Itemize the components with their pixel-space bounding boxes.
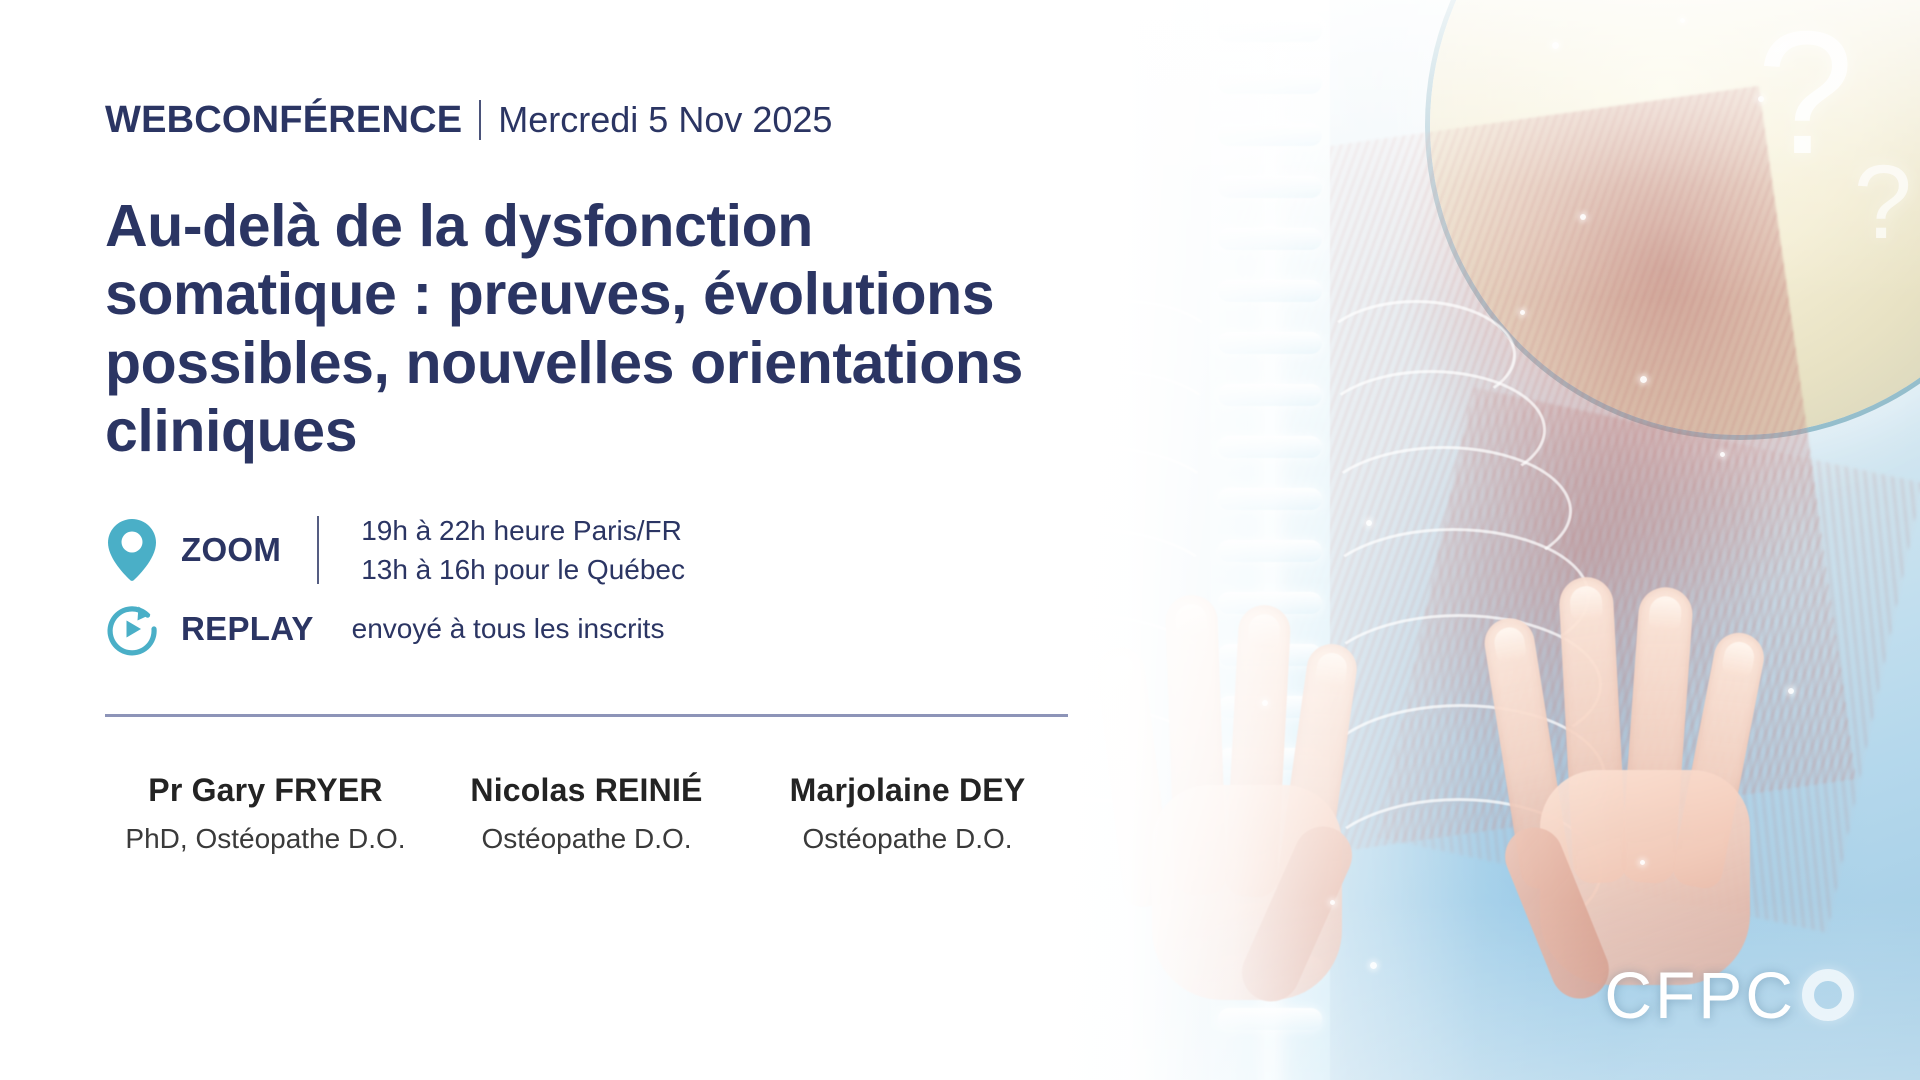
replay-circle-play-icon: [105, 602, 159, 656]
zoom-time-paris: 19h à 22h heure Paris/FR: [361, 514, 685, 547]
zoom-times: 19h à 22h heure Paris/FR 13h à 16h pour …: [361, 514, 685, 586]
zoom-info-divider: [317, 516, 319, 584]
speaker-name: Pr Gary FRYER: [111, 771, 420, 809]
speaker-role: Ostéopathe D.O.: [432, 821, 741, 857]
ring-o-icon: [1802, 969, 1854, 1021]
artwork-panel: ? ?: [1040, 0, 1920, 1080]
zoom-label: ZOOM: [181, 533, 281, 566]
section-divider: [105, 714, 1068, 717]
replay-label: REPLAY: [181, 612, 314, 645]
event-info-block: ZOOM 19h à 22h heure Paris/FR 13h à 16h …: [105, 514, 1110, 656]
artwork-top-fade: [1040, 0, 1920, 300]
speaker-card: Pr Gary FRYER PhD, Ostéopathe D.O.: [105, 771, 426, 857]
speaker-name: Nicolas REINIÉ: [432, 771, 741, 809]
kicker-divider: [479, 100, 481, 140]
cfpco-logo: CFPC: [1604, 962, 1854, 1028]
speaker-card: Marjolaine DEY Ostéopathe D.O.: [747, 771, 1068, 857]
page-title: Au-delà de la dysfonction somatique : pr…: [105, 192, 1105, 466]
speaker-role: PhD, Ostéopathe D.O.: [111, 821, 420, 857]
kicker-label: WEBCONFÉRENCE: [105, 101, 462, 139]
replay-info-row: REPLAY envoyé à tous les inscrits: [105, 602, 1110, 656]
logo-wordmark: CFPC: [1604, 962, 1796, 1028]
zoom-time-quebec: 13h à 16h pour le Québec: [361, 553, 685, 586]
event-date: Mercredi 5 Nov 2025: [498, 102, 832, 138]
speaker-role: Ostéopathe D.O.: [753, 821, 1062, 857]
speaker-name: Marjolaine DEY: [753, 771, 1062, 809]
speaker-card: Nicolas REINIÉ Ostéopathe D.O.: [426, 771, 747, 857]
speakers-list: Pr Gary FRYER PhD, Ostéopathe D.O. Nicol…: [105, 771, 1068, 857]
zoom-info-row: ZOOM 19h à 22h heure Paris/FR 13h à 16h …: [105, 514, 1110, 586]
content-panel: WEBCONFÉRENCE Mercredi 5 Nov 2025 Au-del…: [0, 0, 1110, 1080]
location-pin-icon: [105, 518, 159, 582]
replay-note: envoyé à tous les inscrits: [352, 615, 665, 643]
webinar-banner: ? ? CFPC WEBCONFÉRENCE Mercredi 5 Nov 20…: [0, 0, 1920, 1080]
kicker-row: WEBCONFÉRENCE Mercredi 5 Nov 2025: [105, 100, 1110, 140]
